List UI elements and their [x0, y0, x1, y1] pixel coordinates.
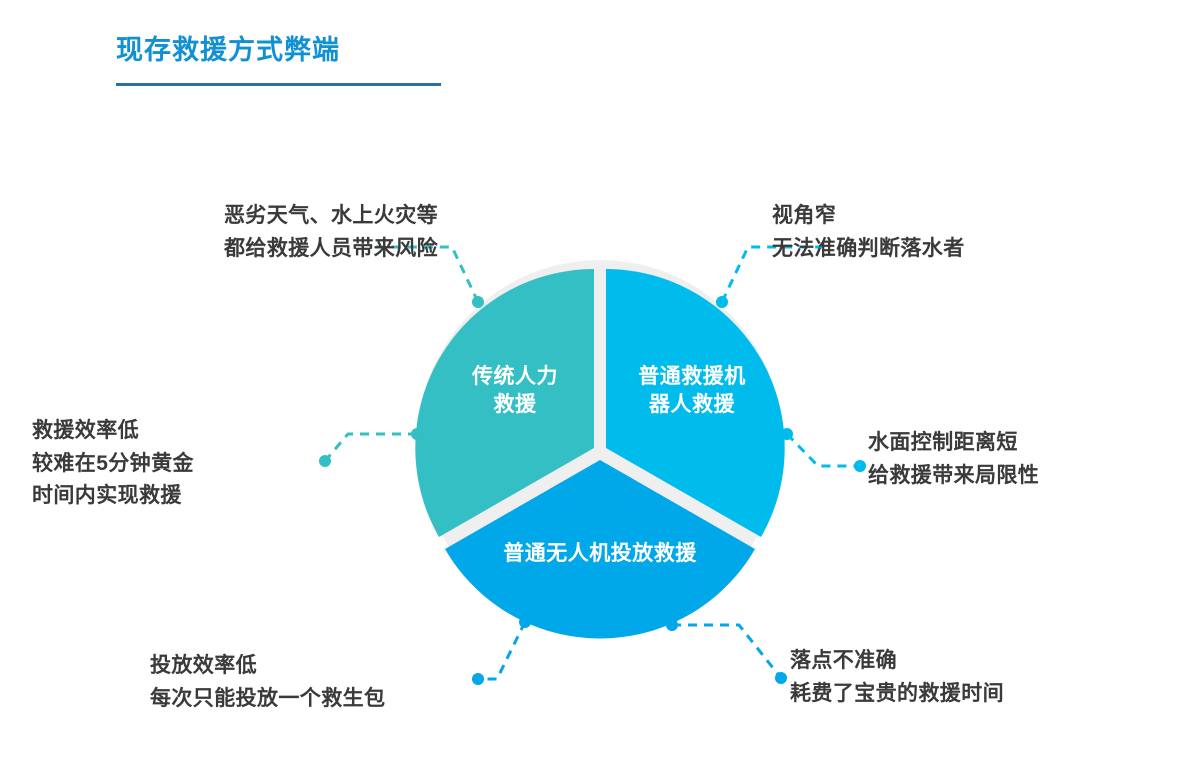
connector-bottom-right [666, 619, 787, 684]
connector-dot-bottom-left-inner [519, 616, 531, 628]
connector-right [781, 428, 866, 472]
callout-text-top-left: 恶劣天气、水上火灾等 都给救援人员带来风险 [108, 200, 438, 265]
callout-text-top-right: 视角窄 无法准确判断落水者 [772, 200, 1102, 265]
callout-text-right: 水面控制距离短 给救援带来局限性 [868, 427, 1168, 492]
connector-dot-top-left [472, 296, 484, 308]
connector-dot-right-outer [854, 460, 866, 472]
callout-text-left: 救援效率低 较难在5分钟黄金 时间内实现救援 [32, 415, 332, 513]
connector-dot-left-inner [411, 428, 423, 440]
rescue-methods-pie-diagram: 传统人力 救援 普通救援机 器人救援 普通无人机投放救援 恶劣天气、水上火灾等 … [0, 0, 1200, 784]
connector-dot-right-inner [781, 428, 793, 440]
callout-text-bottom-right: 落点不准确 耗费了宝贵的救援时间 [790, 645, 1150, 710]
callout-text-bottom-left: 投放效率低 每次只能投放一个救生包 [150, 650, 510, 715]
connector-left [319, 428, 423, 467]
connector-dot-bottom-right-outer [775, 672, 787, 684]
connector-dot-top-right [716, 296, 728, 308]
connector-dot-bottom-right-inner [666, 619, 678, 631]
